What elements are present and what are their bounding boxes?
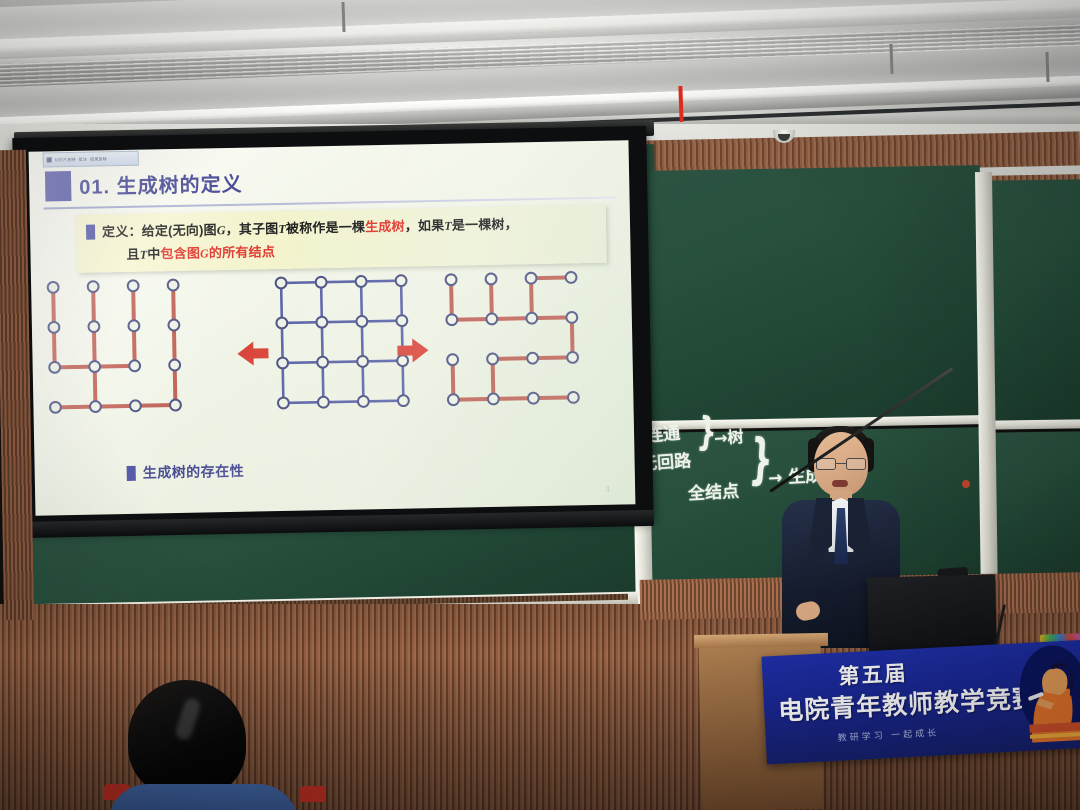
- def2-text-b: 中: [147, 246, 160, 261]
- blackboard-far-lower: [985, 431, 1080, 582]
- competition-banner: 第五届 电院青年教师教学竞赛 教研学习 一起成长: [761, 639, 1080, 764]
- def-text-a: 定义：给定(无向)图: [102, 222, 217, 239]
- complete-grid-graph: [281, 281, 403, 403]
- slide-header-accent-block: [45, 171, 72, 201]
- ppt-toolbar-icon[interactable]: [47, 157, 52, 162]
- slide-title: 01. 生成树的定义: [79, 168, 243, 200]
- presenter-mouth: [832, 480, 848, 487]
- glasses-bridge: [836, 463, 846, 464]
- student-shoulders: [108, 784, 298, 810]
- presentation-slide: 幻灯片放映 批注 结束放映 01. 生成树的定义 定义：给定(无向)图G，其子图…: [29, 140, 636, 515]
- reading-person-illustration-icon: [981, 644, 1080, 751]
- definition-box: 定义：给定(无向)图G，其子图T被称作是一棵生成树，如果T是一棵树， 且T中包含…: [76, 205, 607, 273]
- definition-line-1: 定义：给定(无向)图G，其子图T被称作是一棵生成树，如果T是一棵树，: [102, 213, 518, 240]
- blackboard-right-upper: [650, 165, 984, 426]
- eyeglasses-icon: [816, 458, 866, 470]
- blackboard-far-upper: [988, 179, 1080, 420]
- arrow-left-icon: [237, 341, 268, 366]
- spanning-tree-left: [53, 285, 175, 407]
- spanning-tree-right: [451, 277, 573, 399]
- def-highlight-1: 生成树: [365, 219, 405, 235]
- def2-text-a: 且: [126, 247, 139, 262]
- lecture-podium-laptop: [867, 574, 997, 655]
- ceiling: [0, 0, 1080, 132]
- def-text-e: 是一棵树，: [452, 216, 518, 232]
- def-text-d: ，如果: [405, 218, 445, 234]
- def-var-g: G: [217, 223, 226, 237]
- nodes-center: [276, 275, 409, 408]
- seat-back-right: [300, 786, 326, 802]
- ppt-toolbar[interactable]: 幻灯片放映 批注 结束放映: [43, 151, 139, 168]
- slide-page-number: 3: [605, 485, 610, 494]
- blackboard-rail-far: [984, 419, 1080, 429]
- projector-screen: 幻灯片放映 批注 结束放映 01. 生成树的定义 定义：给定(无向)图G，其子图…: [12, 126, 653, 532]
- nodes-left: [48, 280, 181, 413]
- ppt-toolbar-item-1[interactable]: 批注: [79, 156, 88, 162]
- lecture-hall-photo: 连通 无回路 全结点 } →树 } → 生成树 幻灯片放映 批注 结束放映 01…: [0, 0, 1080, 810]
- nodes-right: [446, 272, 579, 405]
- bottom-bullet-label: 生成树的存在性: [143, 461, 245, 483]
- def-text-c: 被称作是一棵: [286, 219, 365, 236]
- pointer-tip-icon: [962, 480, 970, 488]
- bottom-bullet-icon: [127, 466, 136, 481]
- graph-svg: [31, 268, 634, 441]
- chalk-line-3: 全结点: [687, 477, 739, 505]
- ppt-toolbar-item-2[interactable]: 结束放映: [90, 156, 107, 162]
- ppt-toolbar-item-0[interactable]: 幻灯片放映: [55, 156, 76, 162]
- podium-top-surface: [694, 633, 828, 648]
- definition-bullet-icon: [86, 225, 95, 240]
- lens-right: [846, 458, 866, 470]
- def2-highlight-2: 的所有结点: [209, 244, 275, 260]
- definition-line-2: 且T中包含图G的所有结点: [126, 241, 275, 263]
- def2-highlight-1: 包含图: [160, 246, 200, 262]
- banner-line-3: 教研学习 一起成长: [837, 726, 939, 744]
- graph-diagram-area: [31, 268, 634, 441]
- def-text-b: ，其子图: [225, 221, 278, 237]
- chalk-arrow-1: →树: [713, 423, 744, 449]
- student-back-of-head: [128, 680, 268, 810]
